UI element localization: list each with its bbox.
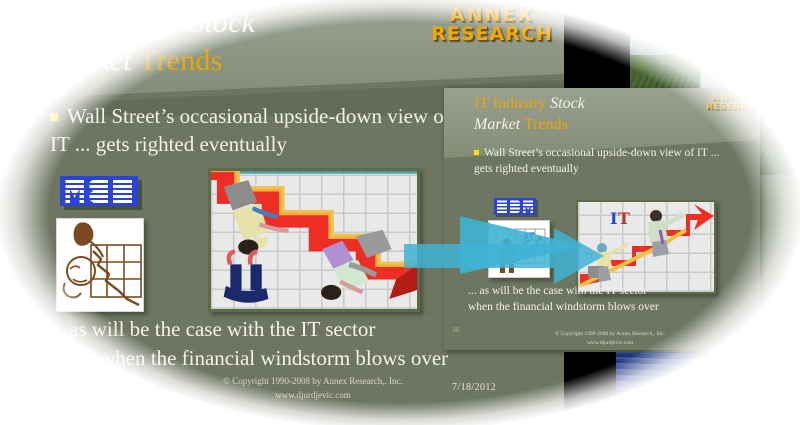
inner-title-stock: Stock bbox=[550, 95, 585, 112]
ibm-logo-mirrored bbox=[60, 176, 138, 206]
down-arrow-art bbox=[208, 168, 420, 312]
title-line-1: IT Industry Stock bbox=[44, 4, 544, 42]
outer-closing-line2: when the financial windstorm blows over bbox=[100, 344, 478, 373]
inner-slide: ANNEX RESEARCH IT Industry Stock Market … bbox=[444, 88, 760, 350]
svg-text:I: I bbox=[610, 209, 617, 228]
inner-title-market: Market bbox=[474, 116, 520, 133]
date-stamp: 7/18/2012 bbox=[452, 382, 496, 393]
outer-slide-copyright: © Copyright 1990-2008 by Annex Research,… bbox=[168, 375, 458, 402]
outer-slide-bullet: Wall Street’s occasional upside-down vie… bbox=[50, 102, 470, 158]
inner-closing-line2: when the financial windstorm blows over bbox=[468, 300, 754, 316]
inner-copyright-url: www.djurdjevic.com bbox=[510, 339, 710, 348]
inner-slide-bullet: Wall Street’s occasional upside-down vie… bbox=[474, 146, 724, 177]
title-stock: Stock bbox=[189, 6, 255, 39]
cyan-right-arrow-icon-small bbox=[460, 206, 584, 284]
inner-slide-closing: ... as will be the case with the IT sect… bbox=[468, 284, 754, 315]
date-badge-line1: Sept bbox=[701, 67, 749, 77]
screenshot-stage: Sept 2012 ANNEX RESEARCH IT Industry Sto… bbox=[0, 0, 800, 425]
inner-slide-title: IT Industry Stock Market Trends bbox=[474, 94, 744, 136]
outer-image-falling-chart bbox=[56, 218, 144, 312]
inner-slide-page-number: 36 bbox=[452, 326, 459, 334]
title-market: Market bbox=[44, 44, 132, 77]
outer-slide-closing: ... as will be the case with the IT sect… bbox=[48, 315, 478, 372]
title-line-2: Market Trends bbox=[44, 42, 544, 80]
figure-overturned bbox=[223, 252, 268, 303]
svg-text:T: T bbox=[618, 209, 630, 228]
outer-copyright-url: www.djurdjevic.com bbox=[168, 389, 458, 403]
inner-title-line-2: Market Trends bbox=[474, 115, 744, 136]
outer-closing-line1: ... as will be the case with the IT sect… bbox=[48, 317, 375, 341]
inner-title-it-industry: IT Industry bbox=[474, 95, 546, 112]
falling-chart-art bbox=[57, 219, 143, 311]
title-trends: Trends bbox=[139, 44, 222, 77]
inner-slide-copyright: © Copyright 1990-2008 by Annex Research,… bbox=[510, 330, 710, 348]
inner-copyright-line1: © Copyright 1990-2008 by Annex Research,… bbox=[510, 330, 710, 339]
date-badge-line2: 2012 bbox=[701, 77, 749, 87]
background-black-panel-top bbox=[560, 0, 630, 92]
outer-image-down-arrow bbox=[208, 168, 420, 312]
inner-title-line-1: IT Industry Stock bbox=[474, 94, 744, 115]
inner-closing-line1: ... as will be the case with the IT sect… bbox=[468, 284, 754, 300]
outer-copyright-line1: © Copyright 1990-2008 by Annex Research,… bbox=[168, 375, 458, 389]
outer-slide-title: IT Industry Stock Market Trends bbox=[44, 4, 544, 81]
ibm-letter-b bbox=[90, 179, 109, 203]
square-bullet-icon bbox=[50, 113, 58, 121]
ibm-logo-stripes bbox=[63, 179, 135, 203]
title-it-industry: IT Industry bbox=[44, 6, 181, 39]
ibm-letter-m bbox=[66, 179, 85, 203]
square-bullet-icon-small bbox=[474, 150, 479, 155]
inner-bullet-text: Wall Street’s occasional upside-down vie… bbox=[474, 147, 719, 175]
date-badge: Sept 2012 bbox=[700, 64, 750, 90]
outer-bullet-text: Wall Street’s occasional upside-down vie… bbox=[50, 104, 451, 156]
background-black-panel-bottom bbox=[556, 352, 616, 425]
inner-title-trends: Trends bbox=[524, 116, 568, 133]
ibm-letter-i bbox=[114, 179, 133, 203]
